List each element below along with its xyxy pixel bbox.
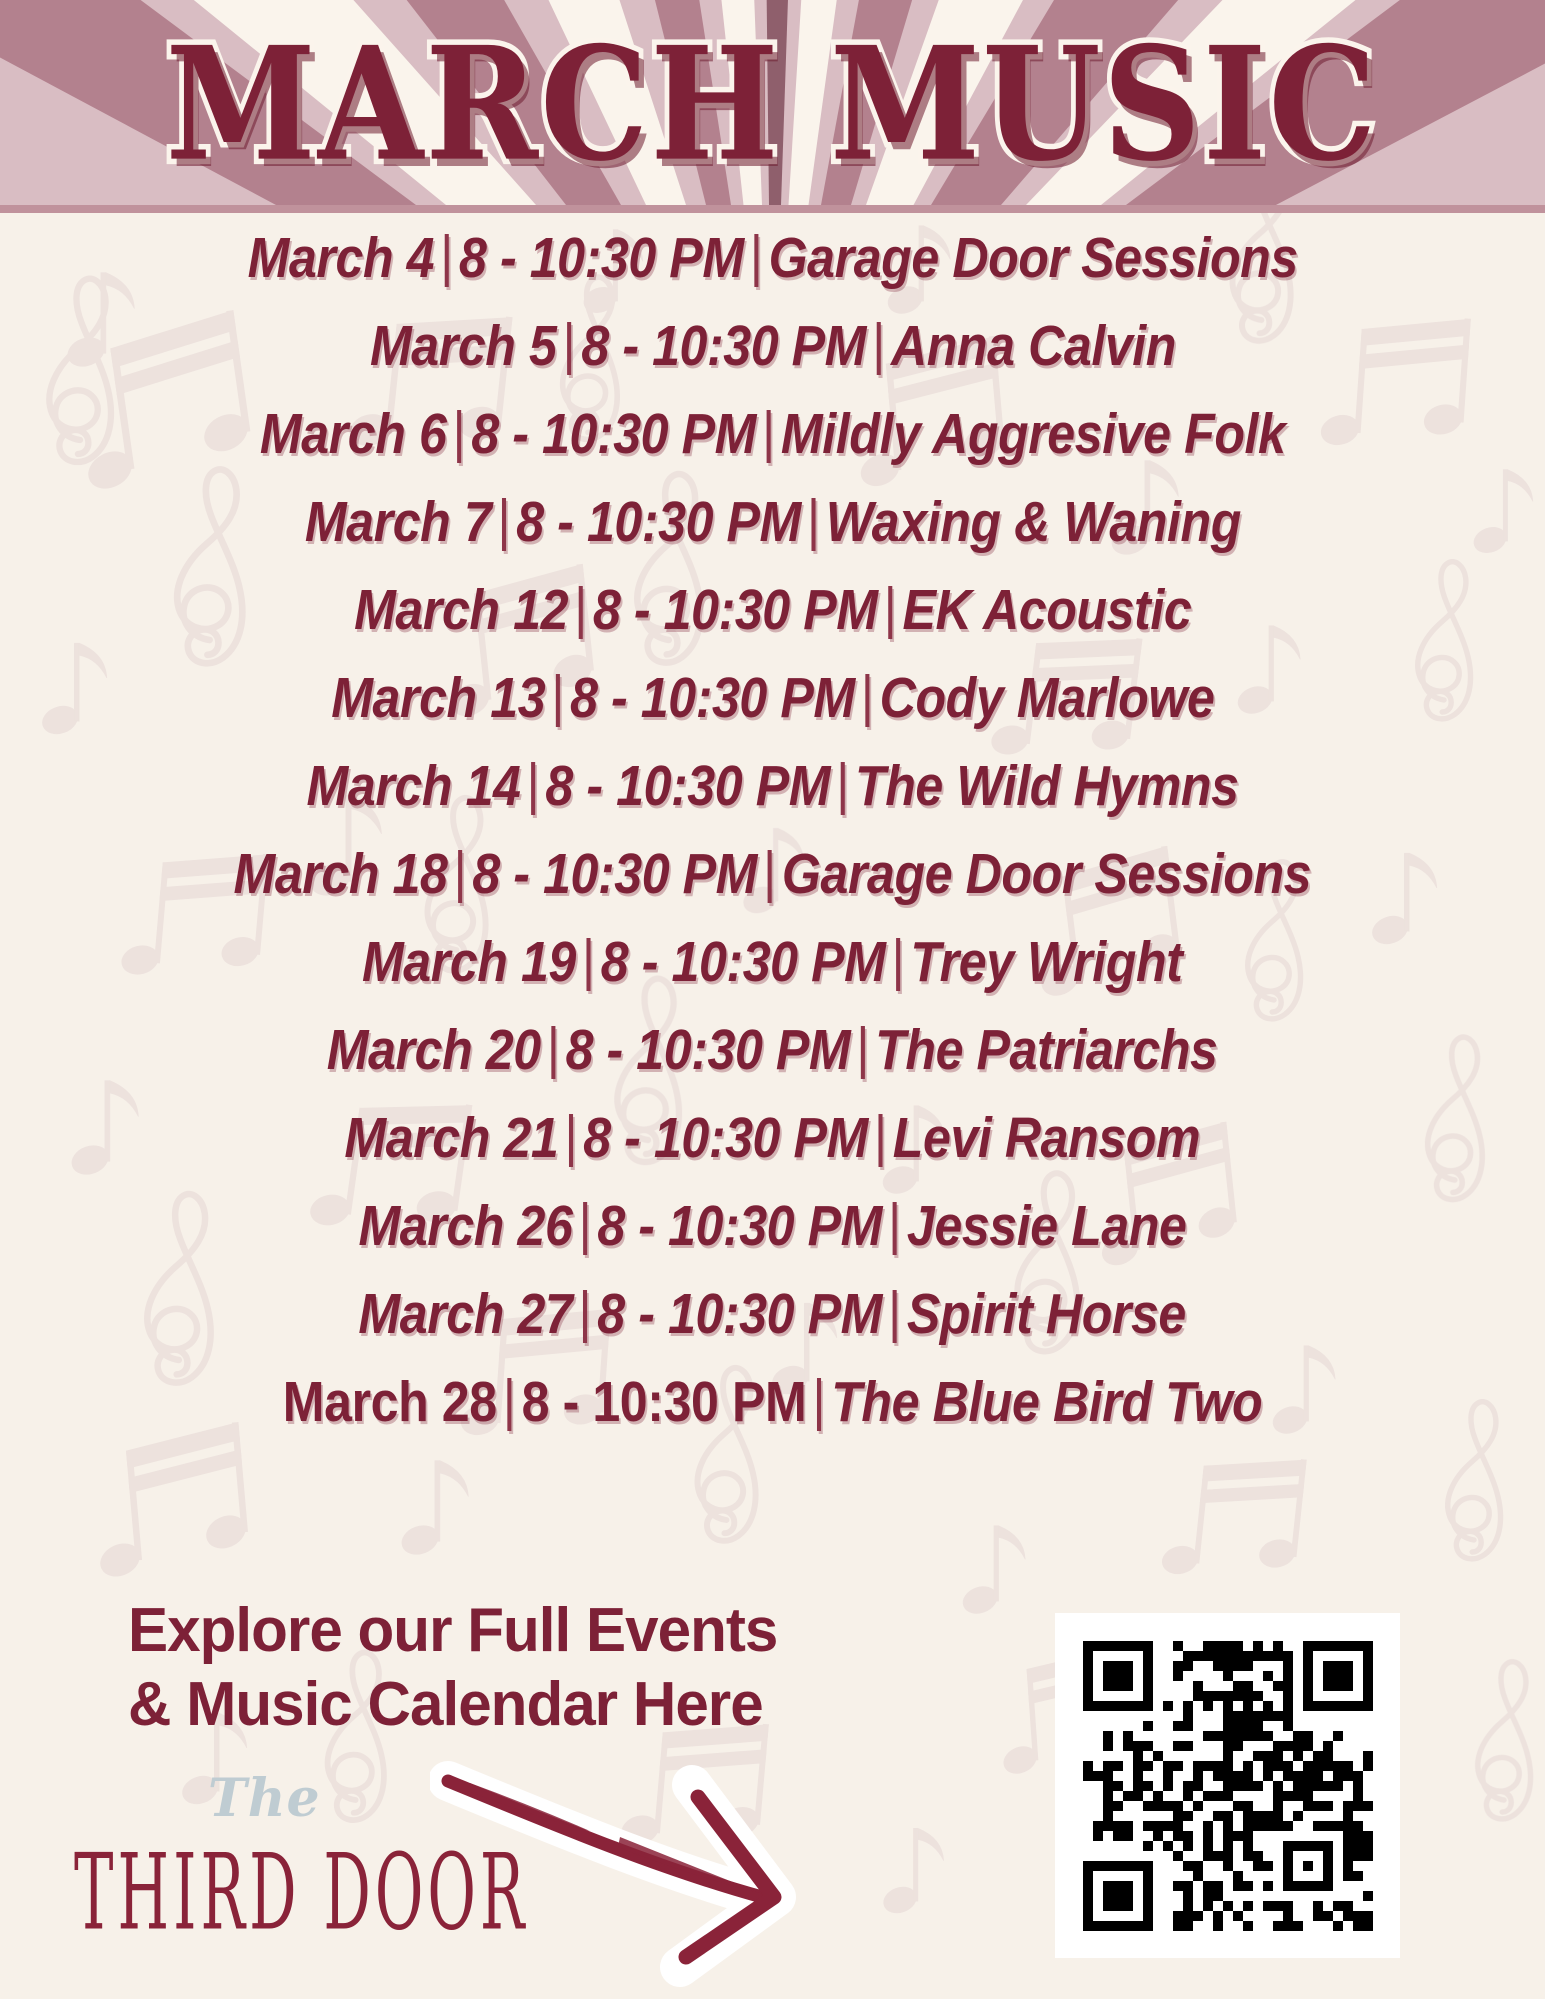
- event-row: March 26|8 - 10:30 PM|Jessie Lane: [358, 1182, 1186, 1270]
- event-act: Spirit Horse: [907, 1282, 1186, 1346]
- event-time: 8 - 10:30 PM: [459, 226, 744, 290]
- event-separator: |: [877, 576, 902, 640]
- event-time: 8 - 10:30 PM: [516, 490, 801, 554]
- header-divider-rule: [0, 205, 1545, 213]
- event-separator: |: [743, 224, 768, 288]
- event-separator: |: [541, 1016, 566, 1080]
- event-row: March 21|8 - 10:30 PM|Levi Ransom: [345, 1094, 1201, 1182]
- event-separator: |: [830, 752, 855, 816]
- event-time: 8 - 10:30 PM: [522, 1370, 807, 1434]
- event-separator: |: [576, 928, 601, 992]
- qr-code[interactable]: [1083, 1641, 1373, 1931]
- event-act: Anna Calvin: [890, 314, 1175, 378]
- event-date: March 21: [345, 1106, 559, 1170]
- event-separator: |: [882, 1280, 907, 1344]
- event-act: Mildly Aggresive Folk: [781, 402, 1286, 466]
- event-separator: |: [851, 1016, 876, 1080]
- event-act: Garage Door Sessions: [782, 842, 1311, 906]
- event-time: 8 - 10:30 PM: [597, 1194, 882, 1258]
- qr-code-panel[interactable]: [1055, 1613, 1400, 1958]
- curved-arrow-icon: [430, 1745, 850, 1995]
- event-separator: |: [491, 488, 516, 552]
- event-time: 8 - 10:30 PM: [583, 1106, 868, 1170]
- event-separator: |: [556, 312, 581, 376]
- cta-text: Explore our Full Events & Music Calendar…: [128, 1594, 846, 1742]
- event-separator: |: [545, 664, 570, 728]
- event-row: March 14|8 - 10:30 PM|The Wild Hymns: [306, 742, 1238, 830]
- event-time: 8 - 10:30 PM: [545, 754, 830, 818]
- event-act: Waxing & Waning: [825, 490, 1240, 554]
- event-row: March 27|8 - 10:30 PM|Spirit Horse: [359, 1270, 1186, 1358]
- event-date: March 14: [306, 754, 520, 818]
- event-time: 8 - 10:30 PM: [473, 842, 758, 906]
- event-date: March 18: [234, 842, 448, 906]
- event-separator: |: [520, 752, 545, 816]
- event-row: March 12|8 - 10:30 PM|EK Acoustic: [354, 566, 1191, 654]
- event-row: March 6|8 - 10:30 PM|Mildly Aggresive Fo…: [260, 390, 1286, 478]
- event-separator: |: [497, 1368, 522, 1432]
- event-time: 8 - 10:30 PM: [471, 402, 756, 466]
- event-row: March 20|8 - 10:30 PM|The Patriarchs: [327, 1006, 1218, 1094]
- event-separator: |: [434, 224, 459, 288]
- event-separator: |: [756, 400, 781, 464]
- event-date: March 20: [327, 1018, 541, 1082]
- event-act: Jessie Lane: [907, 1194, 1187, 1258]
- event-date: March 19: [362, 930, 576, 994]
- event-date: March 26: [358, 1194, 572, 1258]
- event-separator: |: [868, 1104, 893, 1168]
- event-date: March 5: [369, 314, 555, 378]
- poster-title: MARCH MUSIC: [166, 13, 1379, 196]
- event-time: 8 - 10:30 PM: [598, 1282, 883, 1346]
- event-time: 8 - 10:30 PM: [570, 666, 855, 730]
- event-row: March 5|8 - 10:30 PM|Anna Calvin: [369, 302, 1175, 390]
- event-act: Garage Door Sessions: [768, 226, 1297, 290]
- event-separator: |: [806, 1368, 831, 1432]
- event-act: The Wild Hymns: [855, 754, 1239, 818]
- event-list: March 4|8 - 10:30 PM|Garage Door Session…: [0, 214, 1545, 1446]
- event-date: March 27: [359, 1282, 573, 1346]
- event-separator: |: [448, 840, 473, 904]
- event-row: March 7|8 - 10:30 PM|Waxing & Waning: [304, 478, 1240, 566]
- event-date: March 28: [283, 1370, 497, 1434]
- event-date: March 4: [247, 226, 433, 290]
- event-act: EK Acoustic: [902, 578, 1191, 642]
- event-separator: |: [559, 1104, 584, 1168]
- event-separator: |: [446, 400, 471, 464]
- event-date: March 7: [304, 490, 490, 554]
- event-date: March 13: [331, 666, 545, 730]
- event-act: The Patriarchs: [876, 1018, 1218, 1082]
- event-row: March 19|8 - 10:30 PM|Trey Wright: [362, 918, 1182, 1006]
- event-row: March 18|8 - 10:30 PM|Garage Door Sessio…: [234, 830, 1312, 918]
- event-act: The Blue Bird Two: [831, 1370, 1262, 1434]
- event-separator: |: [801, 488, 826, 552]
- event-separator: |: [882, 1192, 907, 1256]
- event-time: 8 - 10:30 PM: [566, 1018, 851, 1082]
- event-act: Trey Wright: [911, 930, 1183, 994]
- event-date: March 12: [354, 578, 568, 642]
- poster: MARCH MUSIC March 4|8 - 10:30 PM|Garage …: [0, 0, 1545, 1999]
- event-act: Levi Ransom: [893, 1106, 1200, 1170]
- event-separator: |: [573, 1280, 598, 1344]
- third-door-logo: The THIRD DOOR: [70, 1770, 460, 1960]
- event-time: 8 - 10:30 PM: [601, 930, 886, 994]
- event-row: March 13|8 - 10:30 PM|Cody Marlowe: [331, 654, 1214, 742]
- event-separator: |: [757, 840, 782, 904]
- cta-line-2: & Music Calendar Here: [128, 1668, 846, 1742]
- event-separator: |: [854, 664, 879, 728]
- event-date: March 6: [260, 402, 446, 466]
- poster-title-wrap: MARCH MUSIC: [0, 0, 1545, 205]
- event-row: March 4|8 - 10:30 PM|Garage Door Session…: [247, 214, 1297, 302]
- event-time: 8 - 10:30 PM: [581, 314, 866, 378]
- event-act: Cody Marlowe: [879, 666, 1214, 730]
- event-separator: |: [886, 928, 911, 992]
- event-separator: |: [572, 1192, 597, 1256]
- cta-line-1: Explore our Full Events: [128, 1594, 846, 1668]
- event-separator: |: [866, 312, 891, 376]
- logo-script-the: The: [208, 1768, 321, 1829]
- event-time: 8 - 10:30 PM: [593, 578, 878, 642]
- event-separator: |: [568, 576, 593, 640]
- header-banner: MARCH MUSIC: [0, 0, 1545, 212]
- event-row: March 28|8 - 10:30 PM|The Blue Bird Two: [283, 1358, 1262, 1446]
